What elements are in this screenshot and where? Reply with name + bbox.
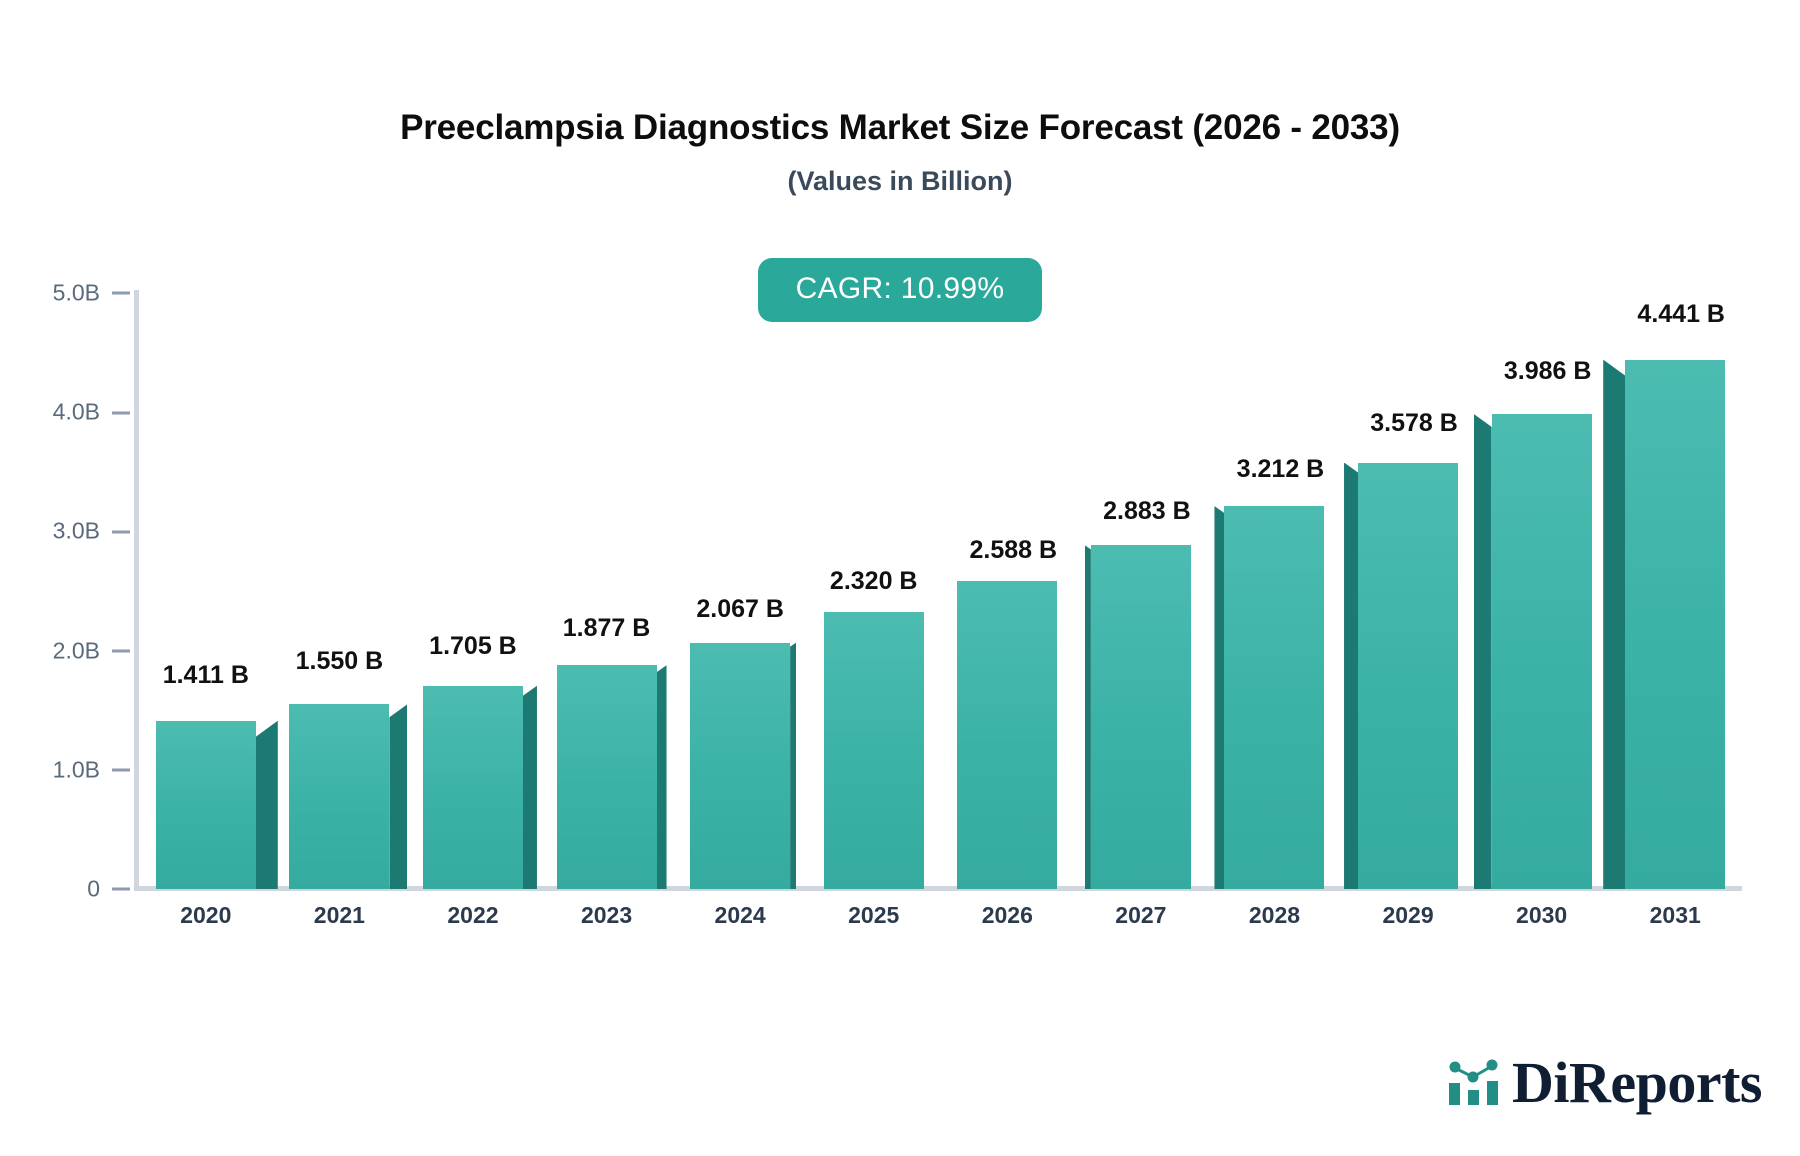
- y-axis-tick-mark: [112, 888, 130, 891]
- bar-2025[interactable]: [824, 612, 924, 889]
- bar-value-label: 1.705 B: [429, 632, 517, 661]
- x-axis-tick-label: 2025: [848, 902, 899, 929]
- y-axis-tick-mark: [112, 292, 130, 295]
- x-axis-tick-label: 2026: [982, 902, 1033, 929]
- bar-side-face: [523, 686, 537, 889]
- logo-text: DiReports: [1512, 1054, 1762, 1112]
- bar-2026[interactable]: [957, 581, 1057, 889]
- bar-2028[interactable]: [1224, 506, 1324, 889]
- bar-front-face: [557, 665, 657, 889]
- bar-front-face: [1358, 463, 1458, 889]
- direports-logo: DiReports: [1446, 1054, 1762, 1112]
- bar-front-face: [156, 721, 256, 889]
- chart-plot-area: 5.0B4.0B3.0B2.0B1.0B0 1.411 B1.550 B1.70…: [0, 0, 1800, 1156]
- bar-front-face: [289, 704, 389, 889]
- y-axis-tick: 1.0B: [0, 756, 130, 783]
- bar-side-face: [657, 665, 667, 889]
- bar-2030[interactable]: [1492, 414, 1592, 889]
- y-axis-tick-mark: [112, 769, 130, 772]
- bar-side-face: [790, 643, 796, 889]
- bar-value-label: 1.411 B: [163, 661, 249, 690]
- x-axis-tick-label: 2020: [180, 902, 231, 929]
- bar-2027[interactable]: [1091, 545, 1191, 889]
- y-axis-tick-label: 3.0B: [53, 518, 100, 545]
- bar-front-face: [1492, 414, 1592, 889]
- bar-front-face: [1625, 360, 1725, 889]
- bar-2031[interactable]: [1625, 360, 1725, 889]
- y-axis-tick-mark: [112, 411, 130, 414]
- bar-side-face: [256, 721, 278, 889]
- y-axis-line: [134, 290, 139, 891]
- x-axis-tick-label: 2022: [447, 902, 498, 929]
- bar-front-face: [957, 581, 1057, 889]
- bar-2022[interactable]: [423, 686, 523, 889]
- bar-2024[interactable]: [690, 643, 790, 889]
- x-axis-tick-label: 2031: [1650, 902, 1701, 929]
- bar-value-label: 3.212 B: [1237, 455, 1325, 484]
- bar-2020[interactable]: [156, 721, 256, 889]
- bar-value-label: 4.441 B: [1637, 300, 1725, 329]
- y-axis-tick-label: 1.0B: [53, 756, 100, 783]
- bar-2021[interactable]: [289, 704, 389, 889]
- bar-2029[interactable]: [1358, 463, 1458, 889]
- y-axis-tick: 0: [0, 876, 130, 903]
- y-axis-tick: 4.0B: [0, 399, 130, 426]
- bar-front-face: [824, 612, 924, 889]
- y-axis-tick-mark: [112, 530, 130, 533]
- bar-side-face: [1603, 360, 1625, 889]
- bar-front-face: [690, 643, 790, 889]
- y-axis-tick: 3.0B: [0, 518, 130, 545]
- bar-value-label: 2.883 B: [1103, 497, 1191, 526]
- bar-side-face: [1214, 506, 1224, 889]
- x-axis-tick-label: 2029: [1382, 902, 1433, 929]
- bar-value-label: 1.877 B: [563, 614, 651, 643]
- y-axis-tick-label: 4.0B: [53, 399, 100, 426]
- bar-2023[interactable]: [557, 665, 657, 889]
- y-axis-tick-label: 5.0B: [53, 280, 100, 307]
- bar-side-face: [389, 704, 407, 889]
- bar-chart-icon: [1446, 1055, 1502, 1112]
- x-axis-tick-label: 2027: [1115, 902, 1166, 929]
- bar-front-face: [423, 686, 523, 889]
- bar-value-label: 2.588 B: [970, 536, 1058, 565]
- bar-side-face: [1474, 414, 1492, 889]
- bar-value-label: 3.578 B: [1370, 409, 1458, 438]
- x-axis-tick-label: 2028: [1249, 902, 1300, 929]
- x-axis-tick-label: 2024: [715, 902, 766, 929]
- y-axis-tick: 5.0B: [0, 280, 130, 307]
- bar-value-label: 2.067 B: [696, 595, 784, 624]
- bar-front-face: [1091, 545, 1191, 889]
- bar-value-label: 2.320 B: [830, 567, 918, 596]
- bar-value-label: 3.986 B: [1504, 357, 1592, 386]
- bar-front-face: [1224, 506, 1324, 889]
- y-axis-tick-mark: [112, 650, 130, 653]
- x-axis-tick-label: 2021: [314, 902, 365, 929]
- y-axis-tick-label: 0: [87, 876, 100, 903]
- x-axis-tick-label: 2030: [1516, 902, 1567, 929]
- bar-value-label: 1.550 B: [296, 647, 384, 676]
- x-axis-tick-label: 2023: [581, 902, 632, 929]
- y-axis-tick: 2.0B: [0, 637, 130, 664]
- bar-side-face: [1344, 463, 1358, 889]
- y-axis-tick-label: 2.0B: [53, 637, 100, 664]
